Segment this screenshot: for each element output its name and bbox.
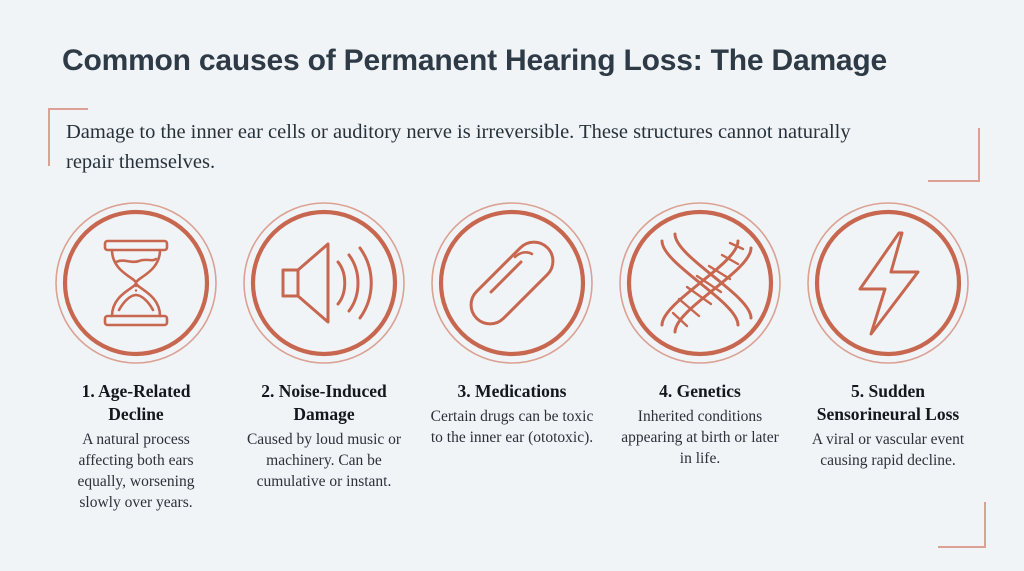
page-title: Common causes of Permanent Hearing Loss:… xyxy=(62,44,982,78)
hourglass-icon xyxy=(53,200,219,366)
cause-card: 3. Medications Certain drugs can be toxi… xyxy=(418,200,606,448)
speaker-waves-icon xyxy=(241,200,407,366)
cause-card-title: 4. Genetics xyxy=(611,380,789,403)
lightning-bolt-icon xyxy=(805,200,971,366)
page-subtitle: Damage to the inner ear cells or auditor… xyxy=(66,117,896,177)
pill-capsule-icon xyxy=(429,200,595,366)
cause-card-description: Caused by loud music or machinery. Can b… xyxy=(241,429,407,492)
cause-card-list: 1. Age-Related Decline A natural process… xyxy=(42,200,982,513)
cause-card-description: A natural process affecting both ears eq… xyxy=(61,429,211,513)
cause-card-description: Inherited conditions appearing at birth … xyxy=(614,406,786,469)
cause-card: 5. Sudden Sensorineural Loss A viral or … xyxy=(794,200,982,471)
cause-card-title: 1. Age-Related Decline xyxy=(60,380,212,426)
dna-helix-icon xyxy=(617,200,783,366)
bracket-top-right-icon xyxy=(928,128,980,182)
cause-card-title: 5. Sudden Sensorineural Loss xyxy=(813,380,963,426)
cause-card-title: 2. Noise-Induced Damage xyxy=(241,380,407,426)
infographic-canvas: Common causes of Permanent Hearing Loss:… xyxy=(0,0,1024,571)
cause-card: 4. Genetics Inherited conditions appeari… xyxy=(606,200,794,469)
cause-card-description: Certain drugs can be toxic to the inner … xyxy=(423,406,601,448)
cause-card-description: A viral or vascular event causing rapid … xyxy=(808,429,968,471)
cause-card: 1. Age-Related Decline A natural process… xyxy=(42,200,230,513)
cause-card-title: 3. Medications xyxy=(423,380,601,403)
cause-card: 2. Noise-Induced Damage Caused by loud m… xyxy=(230,200,418,492)
